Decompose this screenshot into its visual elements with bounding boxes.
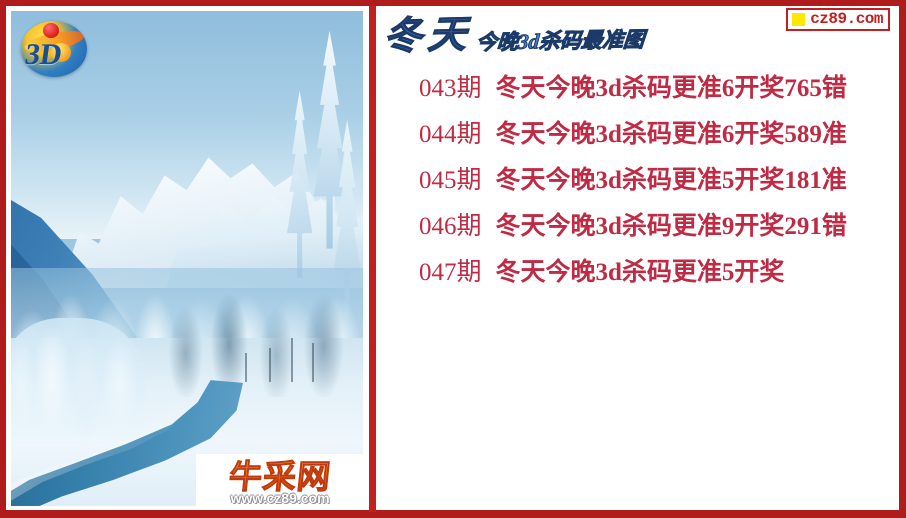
prediction-list: 043期冬天今晚3d杀码更准6开奖765错044期冬天今晚3d杀码更准6开奖58…	[376, 66, 899, 296]
yellow-square-icon	[792, 13, 805, 26]
prediction-row: 045期冬天今晚3d杀码更准5开奖181准	[376, 158, 899, 204]
prediction-issue: 045期	[419, 158, 482, 204]
prediction-row: 046期冬天今晚3d杀码更准9开奖291错	[376, 204, 899, 250]
title-subtitle: 今晚3d杀码最准图	[475, 28, 646, 58]
prediction-text: 冬天今晚3d杀码更准6开奖589准	[496, 112, 847, 158]
prediction-issue: 047期	[419, 250, 482, 296]
3d-lottery-logo: 3D	[21, 21, 87, 77]
content-panel: cz89.com 冬天 今晚3d杀码最准图 043期冬天今晚3d杀码更准6开奖7…	[376, 6, 899, 510]
snowy-hedge	[11, 318, 145, 447]
watermark-chinese-logo: 牛采网	[227, 460, 333, 494]
lottery-prediction-poster: 3D 牛采网 www.cz89.com cz89.com 冬天 今晚3d杀码最准…	[0, 0, 906, 518]
prediction-text: 冬天今晚3d杀码更准5开奖181准	[496, 158, 847, 204]
prediction-issue: 046期	[419, 204, 482, 250]
prediction-text: 冬天今晚3d杀码更准5开奖	[496, 250, 785, 296]
logo-3d-text: 3D	[23, 40, 76, 72]
prediction-row: 044期冬天今晚3d杀码更准6开奖589准	[376, 112, 899, 158]
bare-tree-icon	[245, 353, 247, 383]
poster-inner: 3D 牛采网 www.cz89.com cz89.com 冬天 今晚3d杀码最准…	[6, 6, 899, 510]
page-title: 冬天 今晚3d杀码最准图	[384, 16, 644, 56]
winter-landscape-photo: 3D 牛采网 www.cz89.com	[11, 11, 363, 506]
background-treeline	[166, 288, 363, 397]
prediction-row: 047期冬天今晚3d杀码更准5开奖	[376, 250, 899, 296]
prediction-text: 冬天今晚3d杀码更准6开奖765错	[496, 66, 847, 112]
bare-tree-icon	[291, 338, 293, 383]
bare-tree-icon	[269, 348, 271, 383]
bare-tree-icon	[312, 343, 314, 383]
logo-red-ball-icon	[43, 23, 59, 38]
site-watermark: 牛采网 www.cz89.com	[196, 454, 363, 506]
title-main: 冬天	[383, 15, 474, 57]
cz89-badge-label: cz89.com	[810, 11, 883, 28]
vertical-divider	[369, 6, 376, 512]
prediction-text: 冬天今晚3d杀码更准9开奖291错	[496, 204, 847, 250]
prediction-issue: 043期	[419, 66, 482, 112]
prediction-issue: 044期	[419, 112, 482, 158]
cz89-badge[interactable]: cz89.com	[786, 8, 890, 31]
prediction-row: 043期冬天今晚3d杀码更准6开奖765错	[376, 66, 899, 112]
